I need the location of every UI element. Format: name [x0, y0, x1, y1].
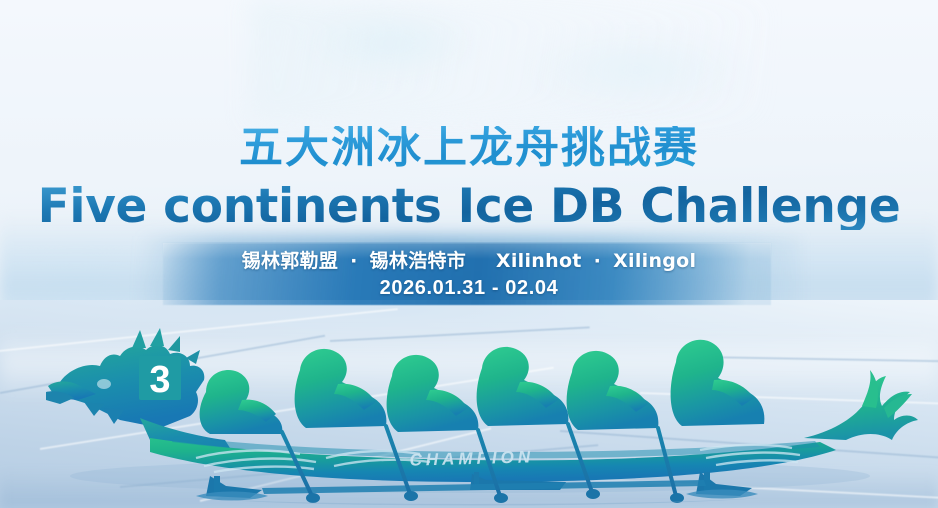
location-city-en: Xilinhot — [496, 250, 582, 272]
event-date-range: 2026.01.31 - 02.04 — [0, 274, 938, 303]
paddler-silhouette — [200, 370, 283, 434]
location-separator-2: · — [589, 250, 607, 272]
lane-number-text: 3 — [149, 359, 170, 401]
ghost-skyline-layer — [250, 0, 770, 120]
paddler-silhouette — [477, 347, 569, 426]
location-league-en: Xilingol — [613, 250, 696, 272]
dragon-tail — [804, 370, 918, 440]
paddler-silhouette — [671, 340, 765, 426]
runner-post — [704, 472, 710, 492]
location-separator-1: · — [345, 250, 363, 272]
lane-number-plaque: 3 — [139, 356, 181, 401]
poster-canvas: 五大洲冰上龙舟挑战赛 Five continents Ice DB Challe… — [0, 0, 938, 508]
paddler-silhouette — [567, 351, 659, 430]
page-title-chinese: 五大洲冰上龙舟挑战赛 — [0, 126, 938, 170]
page-title-english: Five continents Ice DB Challenge — [0, 183, 938, 230]
paddler-group — [200, 340, 765, 434]
location-line: 锡林郭勒盟 · 锡林浩特市 Xilinhot · Xilingol — [0, 249, 938, 274]
dragon-boat-graphic: 3 — [0, 300, 938, 508]
paddler-silhouette — [295, 349, 387, 428]
location-league-cn: 锡林郭勒盟 — [242, 250, 339, 272]
paddler-silhouette — [387, 355, 479, 432]
subtitle-text-block: 锡林郭勒盟 · 锡林浩特市 Xilinhot · Xilingol 2026.0… — [0, 249, 938, 303]
ghost-cloud-a — [300, 8, 480, 78]
hull-brand-text: CHAMPION — [409, 447, 534, 469]
ghost-cloud-b — [520, 30, 750, 110]
location-city-cn: 锡林浩特市 — [370, 250, 467, 272]
